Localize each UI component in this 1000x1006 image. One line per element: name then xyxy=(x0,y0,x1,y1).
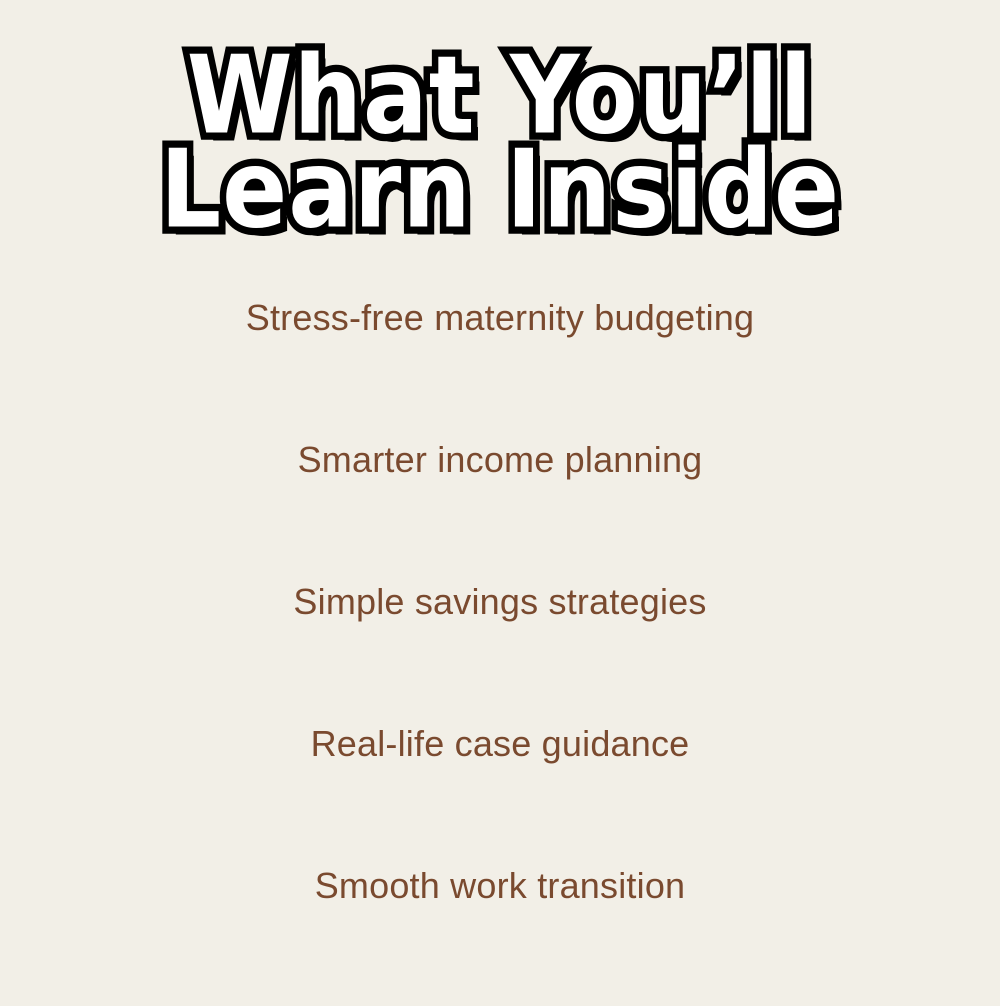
title-line-2: Learn Inside xyxy=(0,138,1000,241)
list-item: Smooth work transition xyxy=(0,864,1000,1006)
feature-label-4: Real-life case guidance xyxy=(311,722,690,766)
list-item: Smarter income planning xyxy=(0,438,1000,580)
list-item: Stress-free maternity budgeting xyxy=(0,296,1000,438)
feature-list: Stress-free maternity budgeting Smarter … xyxy=(0,296,1000,1006)
poster-canvas: What You’ll Learn Inside Stress-free mat… xyxy=(0,0,1000,1000)
page-title: What You’ll Learn Inside xyxy=(0,44,1000,230)
feature-label-1: Stress-free maternity budgeting xyxy=(246,296,754,340)
feature-label-2: Smarter income planning xyxy=(298,438,703,482)
list-item: Simple savings strategies xyxy=(0,580,1000,722)
feature-label-5: Smooth work transition xyxy=(315,864,686,908)
list-item: Real-life case guidance xyxy=(0,722,1000,864)
feature-label-3: Simple savings strategies xyxy=(293,580,706,624)
